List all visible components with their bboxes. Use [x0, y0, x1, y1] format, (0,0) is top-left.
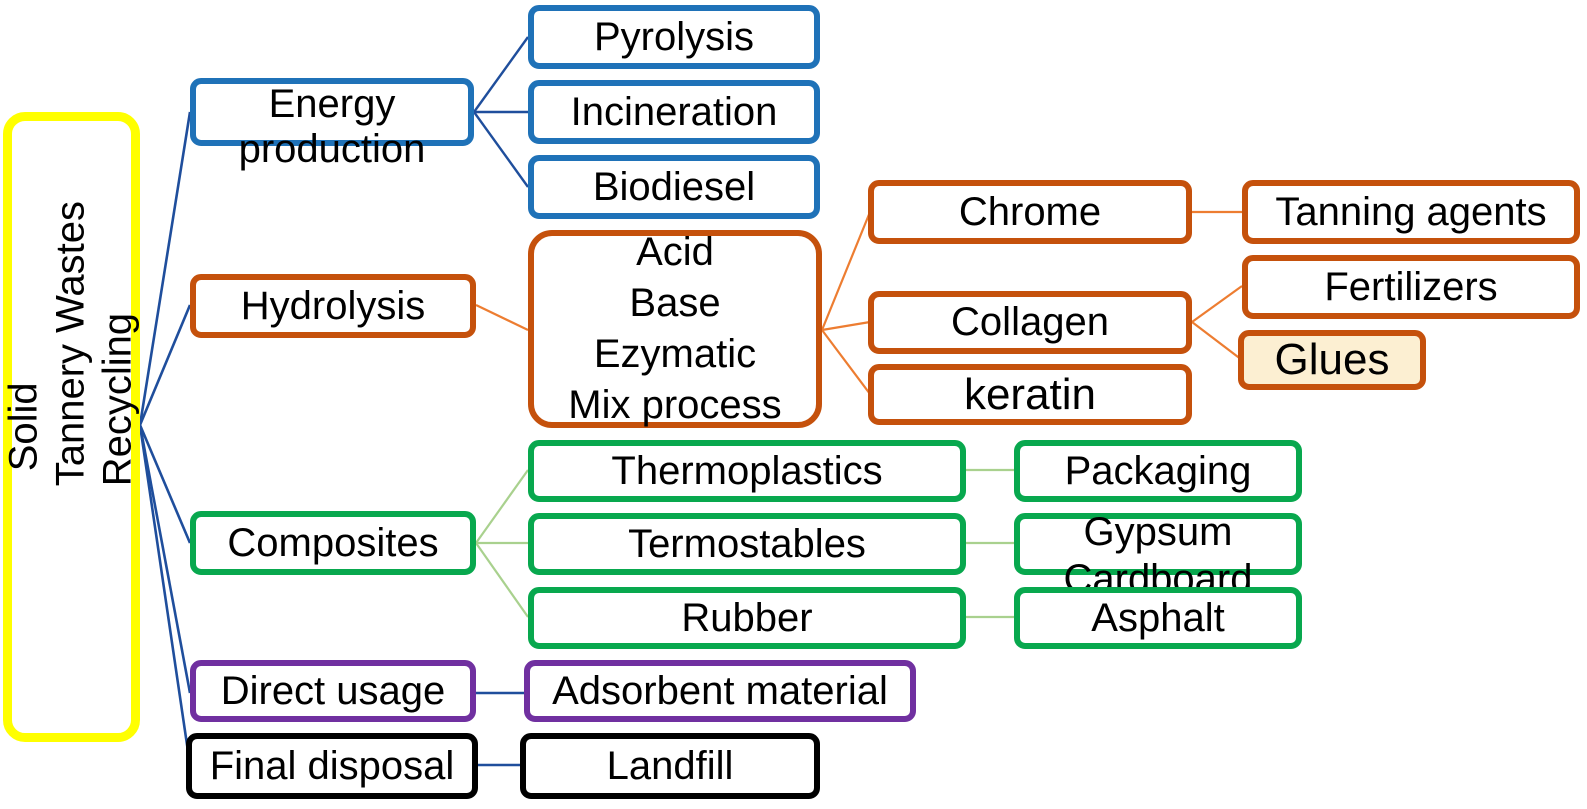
- energy-line-1: Energy: [269, 82, 396, 126]
- node-collagen-label: Collagen: [874, 300, 1186, 345]
- node-biodiesel[interactable]: Biodiesel: [528, 155, 820, 219]
- node-packaging[interactable]: Packaging: [1014, 440, 1302, 502]
- node-adsorbent-material[interactable]: Adsorbent material: [524, 660, 916, 722]
- edge-composites-rubber: [476, 543, 528, 617]
- edge-process-keratin: [822, 330, 870, 394]
- node-adsorbent-material-label: Adsorbent material: [530, 669, 910, 714]
- node-root-solid-tannery-wastes-recycling[interactable]: Solid Tannery Wastes Recycling: [3, 112, 140, 742]
- node-biodiesel-label: Biodiesel: [534, 165, 814, 210]
- node-chrome[interactable]: Chrome: [868, 180, 1192, 244]
- gypsum-line: Gypsum: [1084, 510, 1233, 554]
- node-asphalt[interactable]: Asphalt: [1014, 587, 1302, 649]
- edge-hydrolysis-process: [476, 305, 528, 330]
- root-line-1: Solid: [2, 383, 46, 472]
- bottom-edges: [476, 693, 524, 765]
- node-rubber-label: Rubber: [534, 596, 960, 641]
- node-termostables-label: Termostables: [534, 522, 960, 567]
- diagram-canvas: Solid Tannery Wastes Recycling Energy pr…: [0, 0, 1587, 809]
- node-composites[interactable]: Composites: [190, 511, 476, 575]
- edge-root-energy: [140, 112, 190, 425]
- process-line-4: Mix process: [568, 383, 781, 427]
- edge-energy-biodiesel: [474, 112, 528, 187]
- node-keratin-label: keratin: [874, 370, 1186, 419]
- edge-process-chrome: [822, 212, 870, 330]
- root-line-2: Tannery Wastes: [49, 201, 93, 486]
- node-glues-label: Glues: [1244, 335, 1420, 384]
- node-collagen[interactable]: Collagen: [868, 291, 1192, 354]
- node-pyrolysis-label: Pyrolysis: [534, 15, 814, 60]
- edge-energy-pyrolysis: [474, 37, 528, 112]
- node-energy-production-label: Energy production: [196, 82, 468, 172]
- edge-root-final-disposal: [140, 425, 190, 765]
- process-line-1: Acid: [636, 230, 714, 274]
- edge-process-collagen: [822, 322, 870, 330]
- node-incineration-label: Incineration: [534, 90, 814, 135]
- node-fertilizers-label: Fertilizers: [1248, 265, 1574, 310]
- node-gypsum-cardboard[interactable]: Gypsum Cardboard: [1014, 513, 1302, 575]
- root-line-3: Recycling: [96, 313, 140, 486]
- edge-root-composites: [140, 425, 190, 543]
- edge-collagen-fertilizers: [1192, 286, 1242, 322]
- node-termostables[interactable]: Termostables: [528, 513, 966, 575]
- node-direct-usage-label: Direct usage: [196, 669, 470, 714]
- energy-line-2: production: [239, 127, 426, 171]
- node-fertilizers[interactable]: Fertilizers: [1242, 255, 1580, 319]
- process-line-2: Base: [629, 281, 720, 325]
- node-final-disposal[interactable]: Final disposal: [186, 733, 478, 799]
- energy-edges: [474, 37, 528, 187]
- node-incineration[interactable]: Incineration: [528, 80, 820, 144]
- edge-root-hydrolysis: [140, 305, 190, 425]
- node-tanning-agents-label: Tanning agents: [1248, 190, 1574, 235]
- node-composites-label: Composites: [196, 521, 470, 566]
- node-thermoplastics[interactable]: Thermoplastics: [528, 440, 966, 502]
- edge-composites-thermoplastics: [476, 470, 528, 543]
- edge-root-direct-usage: [140, 425, 190, 693]
- node-direct-usage[interactable]: Direct usage: [190, 660, 476, 722]
- node-hydrolysis[interactable]: Hydrolysis: [190, 274, 476, 338]
- node-rubber[interactable]: Rubber: [528, 587, 966, 649]
- node-glues[interactable]: Glues: [1238, 330, 1426, 390]
- root-edges: [140, 112, 190, 765]
- node-hydrolysis-process-label: Acid Base Ezymatic Mix process: [534, 227, 816, 432]
- process-line-3: Ezymatic: [594, 332, 756, 376]
- node-energy-production[interactable]: Energy production: [190, 78, 474, 146]
- node-keratin[interactable]: keratin: [868, 364, 1192, 425]
- node-thermoplastics-label: Thermoplastics: [534, 449, 960, 494]
- node-packaging-label: Packaging: [1020, 449, 1296, 494]
- node-hydrolysis-process-box[interactable]: Acid Base Ezymatic Mix process: [528, 230, 822, 428]
- node-landfill[interactable]: Landfill: [520, 733, 820, 799]
- node-root-label: Solid Tannery Wastes Recycling: [1, 368, 143, 487]
- node-chrome-label: Chrome: [874, 190, 1186, 235]
- node-pyrolysis[interactable]: Pyrolysis: [528, 5, 820, 69]
- node-final-disposal-label: Final disposal: [192, 744, 472, 789]
- node-landfill-label: Landfill: [526, 744, 814, 789]
- node-hydrolysis-label: Hydrolysis: [196, 284, 470, 329]
- edge-collagen-glues: [1192, 322, 1242, 360]
- node-tanning-agents[interactable]: Tanning agents: [1242, 180, 1580, 244]
- node-asphalt-label: Asphalt: [1020, 596, 1296, 641]
